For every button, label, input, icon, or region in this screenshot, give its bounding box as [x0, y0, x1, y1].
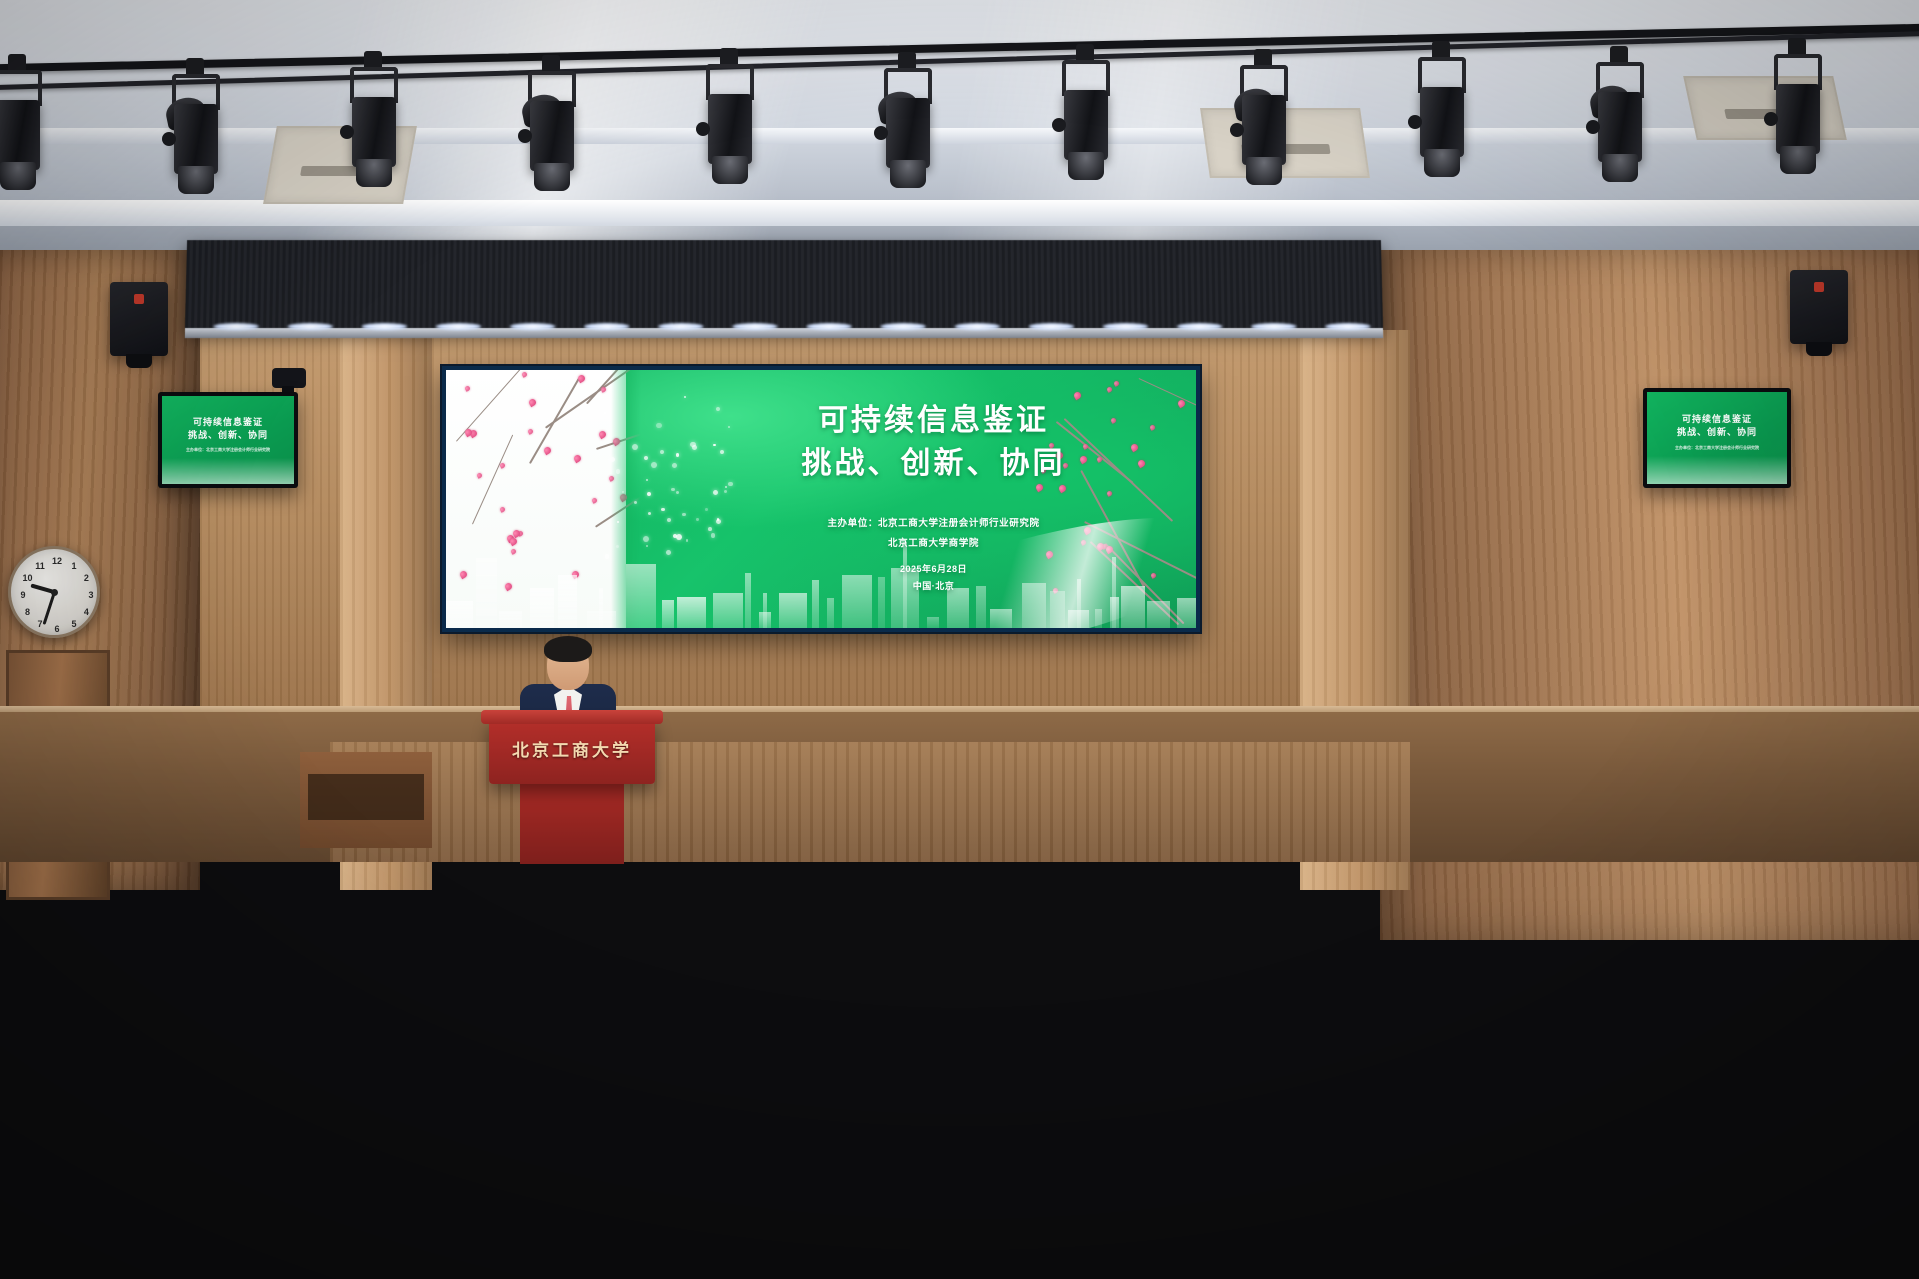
strip-light: [584, 323, 630, 330]
stage-light-fixture: [702, 64, 758, 184]
strip-light: [1102, 323, 1148, 330]
stage-header-panel: [185, 240, 1383, 332]
screen-title-line2: 挑战、创新、协同: [802, 447, 1066, 482]
strip-light: [880, 323, 926, 330]
light-body: [1064, 90, 1108, 160]
strip-light: [732, 323, 778, 330]
monitor-title-line2: 挑战、创新、协同: [1647, 425, 1787, 438]
monitor-panel: 可持续信息鉴证 挑战、创新、协同 主办单位：北京工商大学注册会计师行业研究院: [162, 396, 294, 484]
screen-particle: [634, 501, 637, 504]
screen-title-line1: 可持续信息鉴证: [818, 404, 1049, 439]
screen-particle: [644, 456, 648, 460]
light-knob: [1764, 112, 1778, 126]
strip-light: [435, 323, 481, 330]
light-body: [352, 97, 396, 167]
light-body: [886, 98, 930, 168]
screen-particle: [616, 469, 621, 474]
monitor-title-line1: 可持续信息鉴证: [1647, 412, 1787, 425]
stage-light-fixture: [1770, 54, 1826, 174]
clock-center-pin: [51, 589, 58, 596]
light-body: [1242, 95, 1286, 165]
screen-particle: [610, 457, 615, 462]
clock-numeral: 4: [84, 607, 89, 617]
stage-light-fixture: [880, 68, 936, 188]
screen-particle: [622, 491, 624, 493]
city-spire: [599, 588, 603, 628]
strip-light: [1251, 323, 1297, 330]
monitor-glow: [1647, 456, 1787, 484]
strip-light: [213, 323, 259, 330]
clock-numeral: 7: [37, 619, 42, 629]
strip-light: [1325, 323, 1371, 330]
light-lens: [890, 160, 926, 188]
monitor-title-line2: 挑战、创新、协同: [162, 428, 294, 441]
light-body: [0, 100, 40, 170]
stage-light-fixture: [0, 70, 46, 190]
light-body: [708, 94, 752, 164]
speaker-mount: [1806, 342, 1832, 356]
side-monitor-right: 可持续信息鉴证 挑战、创新、协同 主办单位：北京工商大学注册会计师行业研究院: [1643, 388, 1791, 488]
strip-light: [361, 323, 407, 330]
light-lens: [1424, 149, 1460, 177]
monitor-panel: 可持续信息鉴证 挑战、创新、协同 主办单位：北京工商大学注册会计师行业研究院: [1647, 392, 1787, 484]
stage-light-fixture: [1592, 62, 1648, 182]
light-lens: [1068, 152, 1104, 180]
light-lens: [1602, 154, 1638, 182]
monitor-organizer: 主办单位：北京工商大学注册会计师行业研究院: [1647, 445, 1787, 452]
light-body: [1776, 84, 1820, 154]
stage-light-fixture: [524, 71, 580, 191]
city-building: [476, 558, 497, 628]
light-knob: [696, 122, 710, 136]
clock-numeral: 10: [23, 573, 33, 583]
stage-light-fixture: [1058, 60, 1114, 180]
clock-numeral: 5: [71, 619, 76, 629]
screen-particle: [632, 444, 638, 450]
light-knob: [1586, 120, 1600, 134]
led-screen-surface: 可持续信息鉴证 挑战、创新、协同 主办单位：北京工商大学注册会计师行业研究院 北…: [446, 370, 1196, 628]
light-lens: [178, 166, 214, 194]
light-lens: [534, 163, 570, 191]
screen-particle: [656, 423, 662, 429]
clock-numeral: 12: [52, 556, 62, 566]
screen-particle: [646, 479, 648, 481]
screen-particle: [617, 521, 619, 523]
screen-particle: [647, 492, 652, 497]
screen-location: 中国·北京: [913, 579, 955, 595]
monitor-organizer: 主办单位：北京工商大学注册会计师行业研究院: [162, 447, 294, 454]
light-body: [1598, 92, 1642, 162]
camera-icon: [272, 368, 306, 388]
audience-seating: [0, 700, 1919, 1279]
strip-light: [1177, 323, 1223, 330]
light-lens: [0, 162, 36, 190]
city-building: [499, 611, 522, 628]
stage-light-fixture: [346, 67, 402, 187]
side-monitor-left: 可持续信息鉴证 挑战、创新、协同 主办单位：北京工商大学注册会计师行业研究院: [158, 392, 298, 488]
screen-date: 2025年6月28日: [900, 562, 967, 578]
screen-organizer-line1: 主办单位：北京工商大学注册会计师行业研究院: [827, 515, 1039, 533]
light-body: [174, 104, 218, 174]
strip-light: [510, 323, 556, 330]
speaker-mount: [126, 354, 152, 368]
clock-numeral: 3: [88, 590, 93, 600]
light-lens: [356, 159, 392, 187]
screen-particle: [651, 462, 657, 468]
strip-light: [658, 323, 704, 330]
screen-text-block: 可持续信息鉴证 挑战、创新、协同 主办单位：北京工商大学注册会计师行业研究院 北…: [671, 370, 1196, 628]
light-lens: [712, 156, 748, 184]
wall-clock-icon: 121234567891011: [8, 546, 100, 638]
clock-numeral: 6: [54, 624, 59, 634]
clock-numeral: 1: [71, 561, 76, 571]
main-led-screen: 可持续信息鉴证 挑战、创新、协同 主办单位：北京工商大学注册会计师行业研究院 北…: [442, 366, 1200, 632]
monitor-title-line1: 可持续信息鉴证: [162, 415, 294, 428]
monitor-glow: [162, 458, 294, 484]
light-knob: [1230, 123, 1244, 137]
light-body: [1420, 87, 1464, 157]
ceiling: [0, 0, 1919, 250]
clock-numeral: 11: [35, 561, 45, 571]
auditorium-scene: 121234567891011 可持续信息鉴证 挑战、创新、协同 主办单位：北京…: [0, 0, 1919, 1279]
wall-speaker-icon: [110, 282, 168, 356]
city-building: [626, 564, 656, 628]
strip-light: [806, 323, 852, 330]
stage-light-fixture: [1414, 57, 1470, 177]
wall-speaker-icon: [1790, 270, 1848, 344]
light-lens: [1246, 157, 1282, 185]
light-body: [530, 101, 574, 171]
screen-organizer-line2: 北京工商大学商学院: [888, 535, 979, 553]
city-building: [558, 575, 577, 628]
strip-light: [1028, 323, 1074, 330]
strip-light: [954, 323, 1000, 330]
strip-light: [287, 323, 333, 330]
city-building: [446, 601, 473, 628]
screen-particle: [661, 508, 665, 512]
stage-light-fixture: [168, 74, 224, 194]
light-knob: [874, 126, 888, 140]
city-building: [530, 588, 554, 628]
screen-particle: [604, 412, 606, 414]
clock-numeral: 8: [25, 607, 30, 617]
clock-numeral: 2: [84, 573, 89, 583]
light-knob: [340, 125, 354, 139]
screen-particle: [660, 450, 664, 454]
light-lens: [1780, 146, 1816, 174]
presenter-hair: [544, 636, 592, 662]
screen-particle: [648, 512, 651, 515]
clock-numeral: 9: [20, 590, 25, 600]
stage-light-fixture: [1236, 65, 1292, 185]
